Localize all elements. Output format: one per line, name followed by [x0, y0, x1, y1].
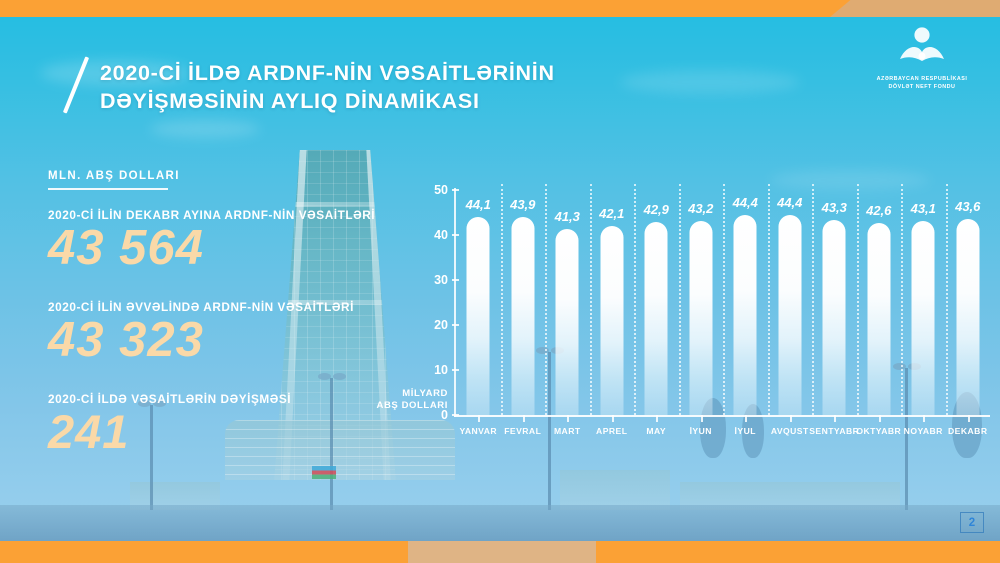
bar-value-label: 43,6 — [955, 199, 980, 214]
x-tick-mark — [745, 415, 747, 422]
chart-bar[interactable] — [600, 226, 623, 415]
y-tick-label: 30 — [434, 273, 448, 287]
stat-label-0: 2020-Cİ İLİN DEKABR AYINA ARDNF-NİN VƏSA… — [48, 208, 408, 222]
column-separator — [545, 184, 547, 415]
x-axis-month-label: APREL — [596, 426, 627, 436]
low-building — [560, 470, 670, 510]
logo-text-line-2: DÖVLƏT NEFT FONDU — [862, 83, 982, 91]
x-tick-mark — [923, 415, 925, 422]
column-separator — [590, 184, 592, 415]
chart-bar[interactable] — [912, 221, 935, 415]
column-separator — [634, 184, 636, 415]
chart-column[interactable]: 43,2İYUN — [679, 190, 724, 415]
page-title-line-1: 2020-Cİ İLDƏ ARDNF-NİN VƏSAİTLƏRİNİN — [100, 60, 660, 88]
monthly-dynamics-bar-chart: 01020304050 MİLYARD ABŞ DOLLARI 44,1YANV… — [418, 190, 990, 440]
chart-y-axis: 01020304050 — [418, 190, 452, 415]
stat-value-1: 43 323 — [48, 316, 408, 366]
x-axis-month-label: OKTYABR — [856, 426, 901, 436]
logo-text-line-1: AZƏRBAYCAN RESPUBLİKASI — [862, 75, 982, 83]
x-tick-mark — [879, 415, 881, 422]
chart-column[interactable]: 42,9MAY — [634, 190, 679, 415]
chart-plot-area: 44,1YANVAR43,9FEVRAL41,3MART42,1APREL42,… — [456, 190, 990, 415]
bar-value-label: 43,2 — [688, 201, 713, 216]
chart-bar[interactable] — [645, 222, 668, 415]
bar-value-label: 43,9 — [510, 197, 535, 212]
bar-value-label: 44,4 — [777, 195, 802, 210]
chart-column[interactable]: 42,6OKTYABR — [857, 190, 902, 415]
x-axis-month-label: İYUL — [735, 426, 756, 436]
x-axis-month-label: NOYABR — [904, 426, 943, 436]
column-separator — [501, 184, 503, 415]
chart-bar[interactable] — [867, 223, 890, 415]
bar-value-label: 43,3 — [822, 200, 847, 215]
x-tick-mark — [612, 415, 614, 422]
x-tick-mark — [656, 415, 658, 422]
column-separator — [679, 184, 681, 415]
column-separator — [857, 184, 859, 415]
x-tick-mark — [968, 415, 970, 422]
x-tick-mark — [567, 415, 569, 422]
column-separator — [946, 184, 948, 415]
organization-logo: AZƏRBAYCAN RESPUBLİKASI DÖVLƏT NEFT FOND… — [862, 26, 982, 91]
column-separator — [901, 184, 903, 415]
x-axis-month-label: SENTYABR — [809, 426, 859, 436]
bar-value-label: 41,3 — [555, 209, 580, 224]
y-tick-label: 20 — [434, 318, 448, 332]
chart-column[interactable]: 41,3MART — [545, 190, 590, 415]
bar-value-label: 44,4 — [733, 195, 758, 210]
column-separator — [723, 184, 725, 415]
column-separator — [768, 184, 770, 415]
x-axis-month-label: MART — [554, 426, 581, 436]
page-number-badge: 2 — [960, 512, 984, 533]
column-separator — [812, 184, 814, 415]
bar-value-label: 44,1 — [466, 197, 491, 212]
x-axis-month-label: MAY — [646, 426, 666, 436]
bar-value-label: 42,1 — [599, 206, 624, 221]
chart-column[interactable]: 42,1APREL — [590, 190, 635, 415]
bar-value-label: 42,9 — [644, 202, 669, 217]
x-axis-month-label: DEKABR — [948, 426, 987, 436]
chart-bar[interactable] — [778, 215, 801, 415]
cloud-shape — [770, 170, 930, 190]
chart-bar[interactable] — [556, 229, 579, 415]
cloud-shape — [150, 120, 260, 138]
y-tick-label: 10 — [434, 363, 448, 377]
x-tick-mark — [523, 415, 525, 422]
chart-column[interactable]: 44,4İYUL — [723, 190, 768, 415]
stat-value-0: 43 564 — [48, 224, 408, 274]
stats-unit-rule — [48, 188, 168, 190]
stat-label-2: 2020-Cİ İLDƏ VƏSAİTLƏRİN DƏYİŞMƏSİ — [48, 392, 408, 406]
slide: 2020-Cİ İLDƏ ARDNF-NİN VƏSAİTLƏRİNİN DƏY… — [0, 0, 1000, 563]
stats-unit-label: MLN. ABŞ DOLLARI — [48, 170, 408, 182]
x-tick-mark — [478, 415, 480, 422]
x-axis-month-label: FEVRAL — [504, 426, 541, 436]
chart-column[interactable]: 43,1NOYABR — [901, 190, 946, 415]
chart-bar[interactable] — [689, 221, 712, 415]
x-tick-mark — [834, 415, 836, 422]
bar-value-label: 42,6 — [866, 203, 891, 218]
socar-fund-figure-icon — [896, 26, 948, 66]
chart-bar[interactable] — [823, 220, 846, 415]
title-block: 2020-Cİ İLDƏ ARDNF-NİN VƏSAİTLƏRİNİN DƏY… — [100, 60, 660, 115]
stats-panel: MLN. ABŞ DOLLARI 2020-Cİ İLİN DEKABR AYI… — [48, 170, 408, 482]
x-axis-month-label: İYUN — [690, 426, 712, 436]
chart-column[interactable]: 43,6DEKABR — [946, 190, 991, 415]
stat-value-2: 241 — [48, 408, 408, 456]
x-tick-mark — [701, 415, 703, 422]
x-axis-month-label: YANVAR — [459, 426, 497, 436]
x-axis-month-label: AVQUST — [771, 426, 809, 436]
chart-bar[interactable] — [467, 217, 490, 415]
chart-x-axis-line — [454, 415, 990, 417]
bottom-accent-bar-segment — [408, 541, 596, 563]
chart-column[interactable]: 44,1YANVAR — [456, 190, 501, 415]
chart-bar[interactable] — [511, 217, 534, 415]
page-title-line-2: DƏYİŞMƏSİNİN AYLIQ DİNAMİKASI — [100, 88, 660, 116]
y-tick-label: 50 — [434, 183, 448, 197]
chart-bar[interactable] — [956, 219, 979, 415]
chart-bar[interactable] — [734, 215, 757, 415]
top-accent-bar-segment — [830, 0, 1000, 17]
chart-column[interactable]: 43,3SENTYABR — [812, 190, 857, 415]
bar-value-label: 43,1 — [911, 201, 936, 216]
chart-column[interactable]: 44,4AVQUST — [768, 190, 813, 415]
y-tick-label: 40 — [434, 228, 448, 242]
chart-column[interactable]: 43,9FEVRAL — [501, 190, 546, 415]
x-tick-mark — [790, 415, 792, 422]
stat-label-1: 2020-Cİ İLİN ƏVVƏLİNDƏ ARDNF-NİN VƏSAİTL… — [48, 300, 408, 314]
